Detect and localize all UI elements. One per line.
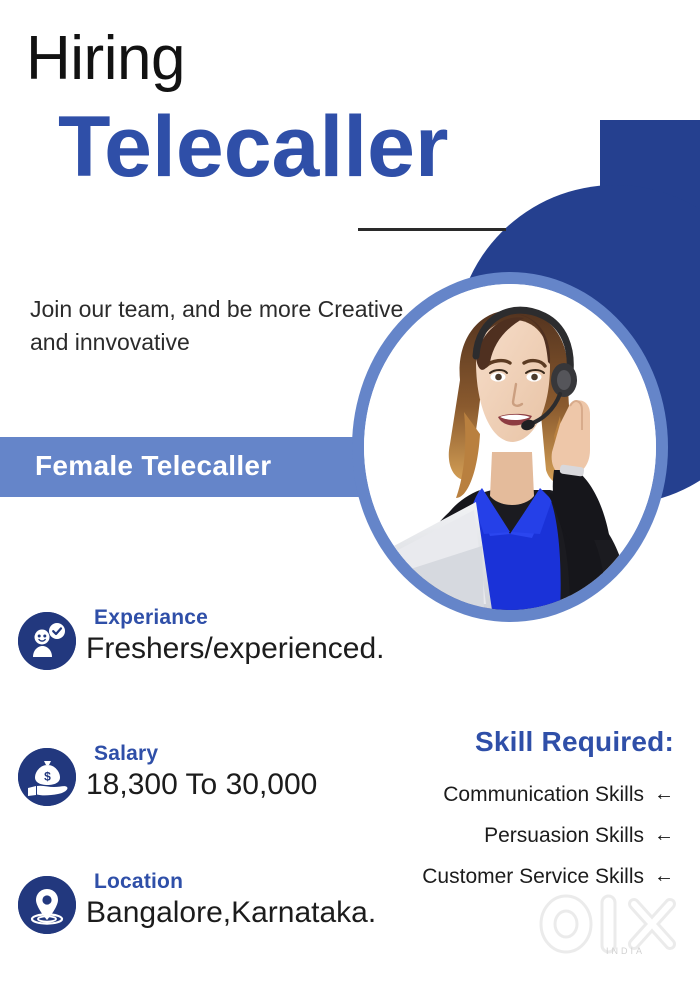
- title-divider: [358, 228, 506, 231]
- list-item: Communication Skills ←: [422, 783, 674, 807]
- olx-watermark-region: INDIA: [606, 946, 645, 956]
- skill-label: Communication Skills: [443, 783, 644, 807]
- detail-value-experience: Freshers/experienced.: [86, 632, 384, 666]
- job-poster: Hiring Telecaller Join our team, and be …: [0, 0, 700, 1000]
- detail-label-experience: Experiance: [94, 606, 208, 630]
- svg-text:$: $: [44, 770, 51, 784]
- arrow-left-icon: ←: [654, 784, 674, 804]
- tagline-text: Join our team, and be more Creative and …: [30, 293, 410, 360]
- money-bag-hand-icon: $: [18, 748, 76, 806]
- list-item: Persuasion Skills ←: [422, 824, 674, 848]
- page-title: Telecaller: [58, 104, 448, 190]
- detail-value-location: Bangalore,Karnataka.: [86, 896, 376, 930]
- detail-value-salary: 18,300 To 30,000: [86, 768, 317, 802]
- skill-label: Persuasion Skills: [484, 824, 644, 848]
- hiring-eyebrow: Hiring: [26, 28, 185, 90]
- banner-label: Female Telecaller: [35, 450, 272, 482]
- detail-label-salary: Salary: [94, 742, 158, 766]
- location-pin-icon: [18, 876, 76, 934]
- user-check-icon: [18, 612, 76, 670]
- arrow-left-icon: ←: [654, 825, 674, 845]
- skills-title: Skill Required:: [475, 726, 674, 758]
- detail-label-location: Location: [94, 870, 183, 894]
- arrow-left-icon: ←: [654, 866, 674, 886]
